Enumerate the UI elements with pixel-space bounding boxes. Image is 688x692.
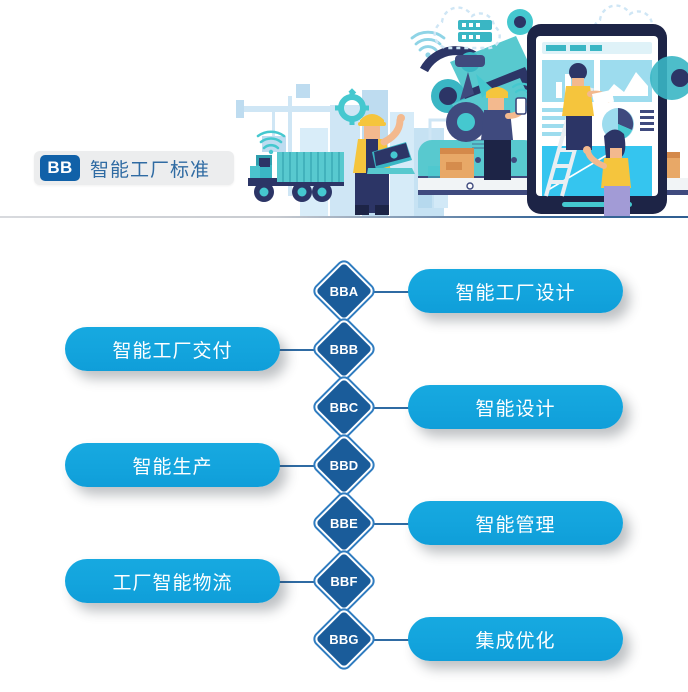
header-divider — [0, 216, 688, 218]
pill-bbf[interactable]: 工厂智能物流 — [65, 559, 280, 603]
node-bbf[interactable]: BBF — [316, 553, 372, 609]
pill-bba[interactable]: 智能工厂设计 — [408, 269, 623, 313]
title-badge: BB — [40, 155, 80, 181]
node-bba[interactable]: BBA — [316, 263, 372, 319]
hero-banner: BB 智能工厂标准 — [0, 0, 688, 232]
standards-diagram: 智能工厂设计 智能工厂交付 智能设计 智能生产 智能管理 工厂智能物流 集成优化… — [0, 232, 688, 692]
smart-factory-illustration — [0, 0, 688, 222]
node-bbd[interactable]: BBD — [316, 437, 372, 493]
diamond-shape — [316, 263, 373, 320]
node-bbb[interactable]: BBB — [316, 321, 372, 377]
page-title-chip: BB 智能工厂标准 — [34, 151, 234, 185]
node-bbg[interactable]: BBG — [316, 611, 372, 667]
pill-bbg[interactable]: 集成优化 — [408, 617, 623, 661]
pill-bbb[interactable]: 智能工厂交付 — [65, 327, 280, 371]
pill-bbd[interactable]: 智能生产 — [65, 443, 280, 487]
diamond-shape — [316, 611, 373, 668]
diamond-shape — [316, 437, 373, 494]
pill-bbc[interactable]: 智能设计 — [408, 385, 623, 429]
node-bbe[interactable]: BBE — [316, 495, 372, 551]
pill-bbe[interactable]: 智能管理 — [408, 501, 623, 545]
page-title: 智能工厂标准 — [90, 155, 210, 182]
diamond-shape — [316, 553, 373, 610]
diamond-shape — [316, 379, 373, 436]
diamond-shape — [316, 321, 373, 378]
diamond-shape — [316, 495, 373, 552]
node-bbc[interactable]: BBC — [316, 379, 372, 435]
